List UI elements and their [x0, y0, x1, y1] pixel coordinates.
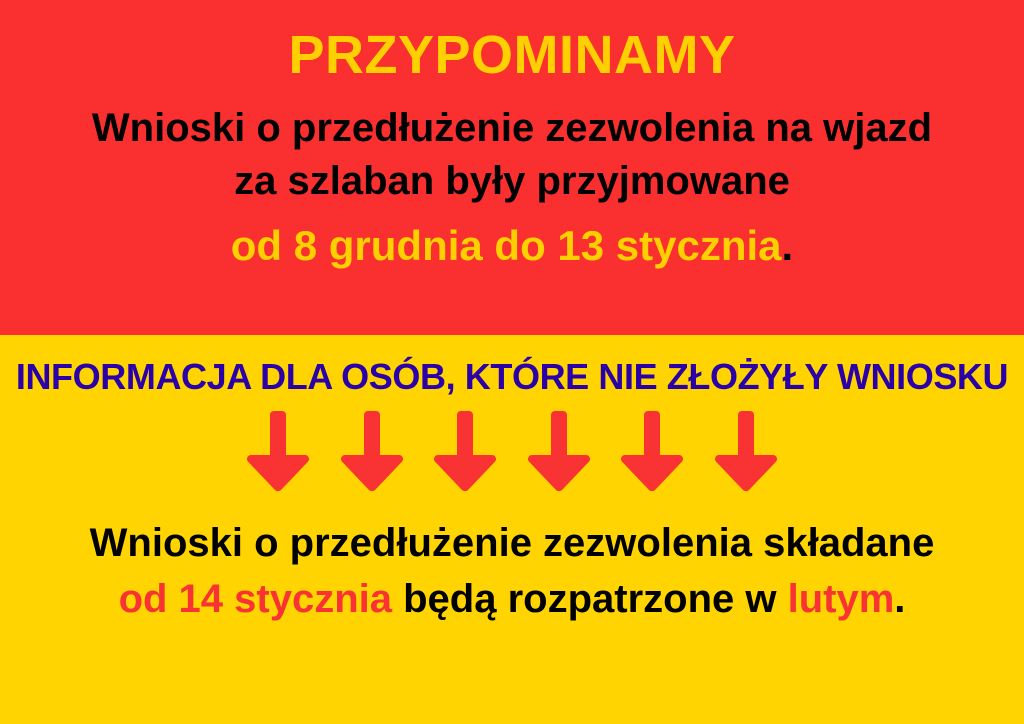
reminder-line-3-period: . [782, 222, 794, 269]
reminder-line-2: za szlaban były przyjmowane [32, 155, 992, 208]
arrow-down-icon [341, 411, 403, 493]
information-line-2: od 14 stycznia będą rozpatrzone w lutym. [22, 571, 1002, 628]
arrow-down-icon [621, 411, 683, 493]
information-yellow-section: INFORMACJA DLA OSÓB, KTÓRE NIE ZŁOŻYŁY W… [0, 335, 1024, 724]
reminder-body-text: Wnioski o przedłużenie zezwolenia na wja… [32, 102, 992, 274]
arrow-down-icon [434, 411, 496, 493]
information-start-date: od 14 stycznia [119, 577, 392, 621]
reminder-line-3: od 8 grudnia do 13 stycznia. [32, 218, 992, 274]
reminder-line-1: Wnioski o przedłużenie zezwolenia na wja… [32, 102, 992, 155]
arrow-down-icon [247, 411, 309, 493]
reminder-date-range: od 8 grudnia do 13 stycznia [231, 222, 782, 269]
information-line-2-middle: będą rozpatrzone w [392, 577, 788, 621]
reminder-red-section: PRZYPOMINAMY Wnioski o przedłużenie zezw… [0, 0, 1024, 335]
information-body-text: Wnioski o przedłużenie zezwolenia składa… [22, 515, 1002, 629]
information-review-month: lutym [788, 577, 895, 621]
arrow-down-icon [528, 411, 590, 493]
page-title: PRZYPOMINAMY [288, 28, 735, 82]
arrow-down-icon [715, 411, 777, 493]
poster-canvas: PRZYPOMINAMY Wnioski o przedłużenie zezw… [0, 0, 1024, 724]
information-line-1: Wnioski o przedłużenie zezwolenia składa… [22, 515, 1002, 572]
information-heading: INFORMACJA DLA OSÓB, KTÓRE NIE ZŁOŻYŁY W… [0, 357, 1024, 397]
information-line-2-period: . [894, 577, 905, 621]
arrow-row [247, 411, 777, 493]
